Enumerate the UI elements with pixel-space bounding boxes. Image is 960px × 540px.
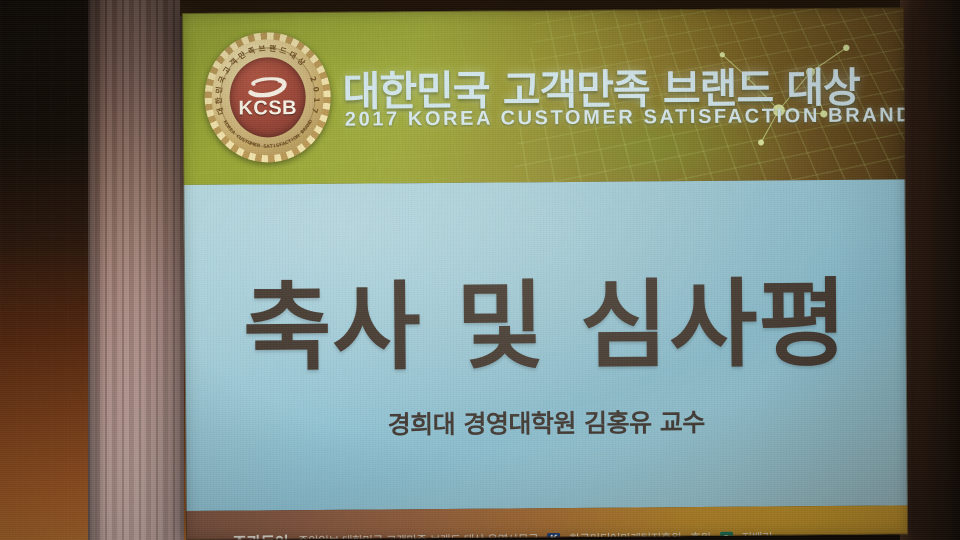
photo-scene: 대한민국고객만족브랜드대상 2017 KOREA CUSTOMER SATISF… — [0, 0, 960, 540]
footer-organizer-brand: 주관동아 — [232, 529, 289, 540]
footer-sponsor-label: 후원 — [690, 530, 711, 540]
right-wall — [900, 0, 960, 540]
partner-logo-icon: K — [547, 533, 560, 540]
kcsb-emblem: 대한민국고객만족브랜드대상 2017 KOREA CUSTOMER SATISF… — [204, 32, 331, 163]
slide-main-title: 축사 및 심사평 — [184, 245, 907, 390]
footer-partner-name: 한국미디어마케팅진흥원 — [569, 530, 681, 540]
slide-body-panel: 축사 및 심사평 경희대 경영대학원 김홍유 교수 — [183, 179, 908, 511]
emblem-core: KCSB — [229, 57, 306, 138]
sponsor-logo-icon: e — [720, 531, 733, 540]
footer-sponsor-name: 지뱅리 — [742, 529, 773, 540]
curtain — [88, 0, 184, 540]
slide-header-subtitle: 2017 KOREA CUSTOMER SATISFACTION BRAND — [345, 104, 906, 131]
slide-presenter: 경희대 경영대학원 김홍유 교수 — [185, 401, 907, 443]
emblem-acronym: KCSB — [238, 98, 297, 118]
slide-header-band: 대한민국고객만족브랜드대상 2017 KOREA CUSTOMER SATISF… — [182, 7, 905, 185]
projection-screen: 대한민국고객만족브랜드대상 2017 KOREA CUSTOMER SATISF… — [182, 7, 908, 540]
s-swoosh-icon — [246, 77, 290, 97]
footer-organizer-desc: 중앙일보 대한민국 고객만족 브랜드 대상 운영사무국 — [298, 531, 538, 540]
footer-credits: 주관동아 중앙일보 대한민국 고객만족 브랜드 대상 운영사무국 K 한국미디어… — [186, 525, 908, 540]
slide-footer-band: 주관동아 중앙일보 대한민국 고객만족 브랜드 대상 운영사무국 K 한국미디어… — [186, 505, 908, 540]
